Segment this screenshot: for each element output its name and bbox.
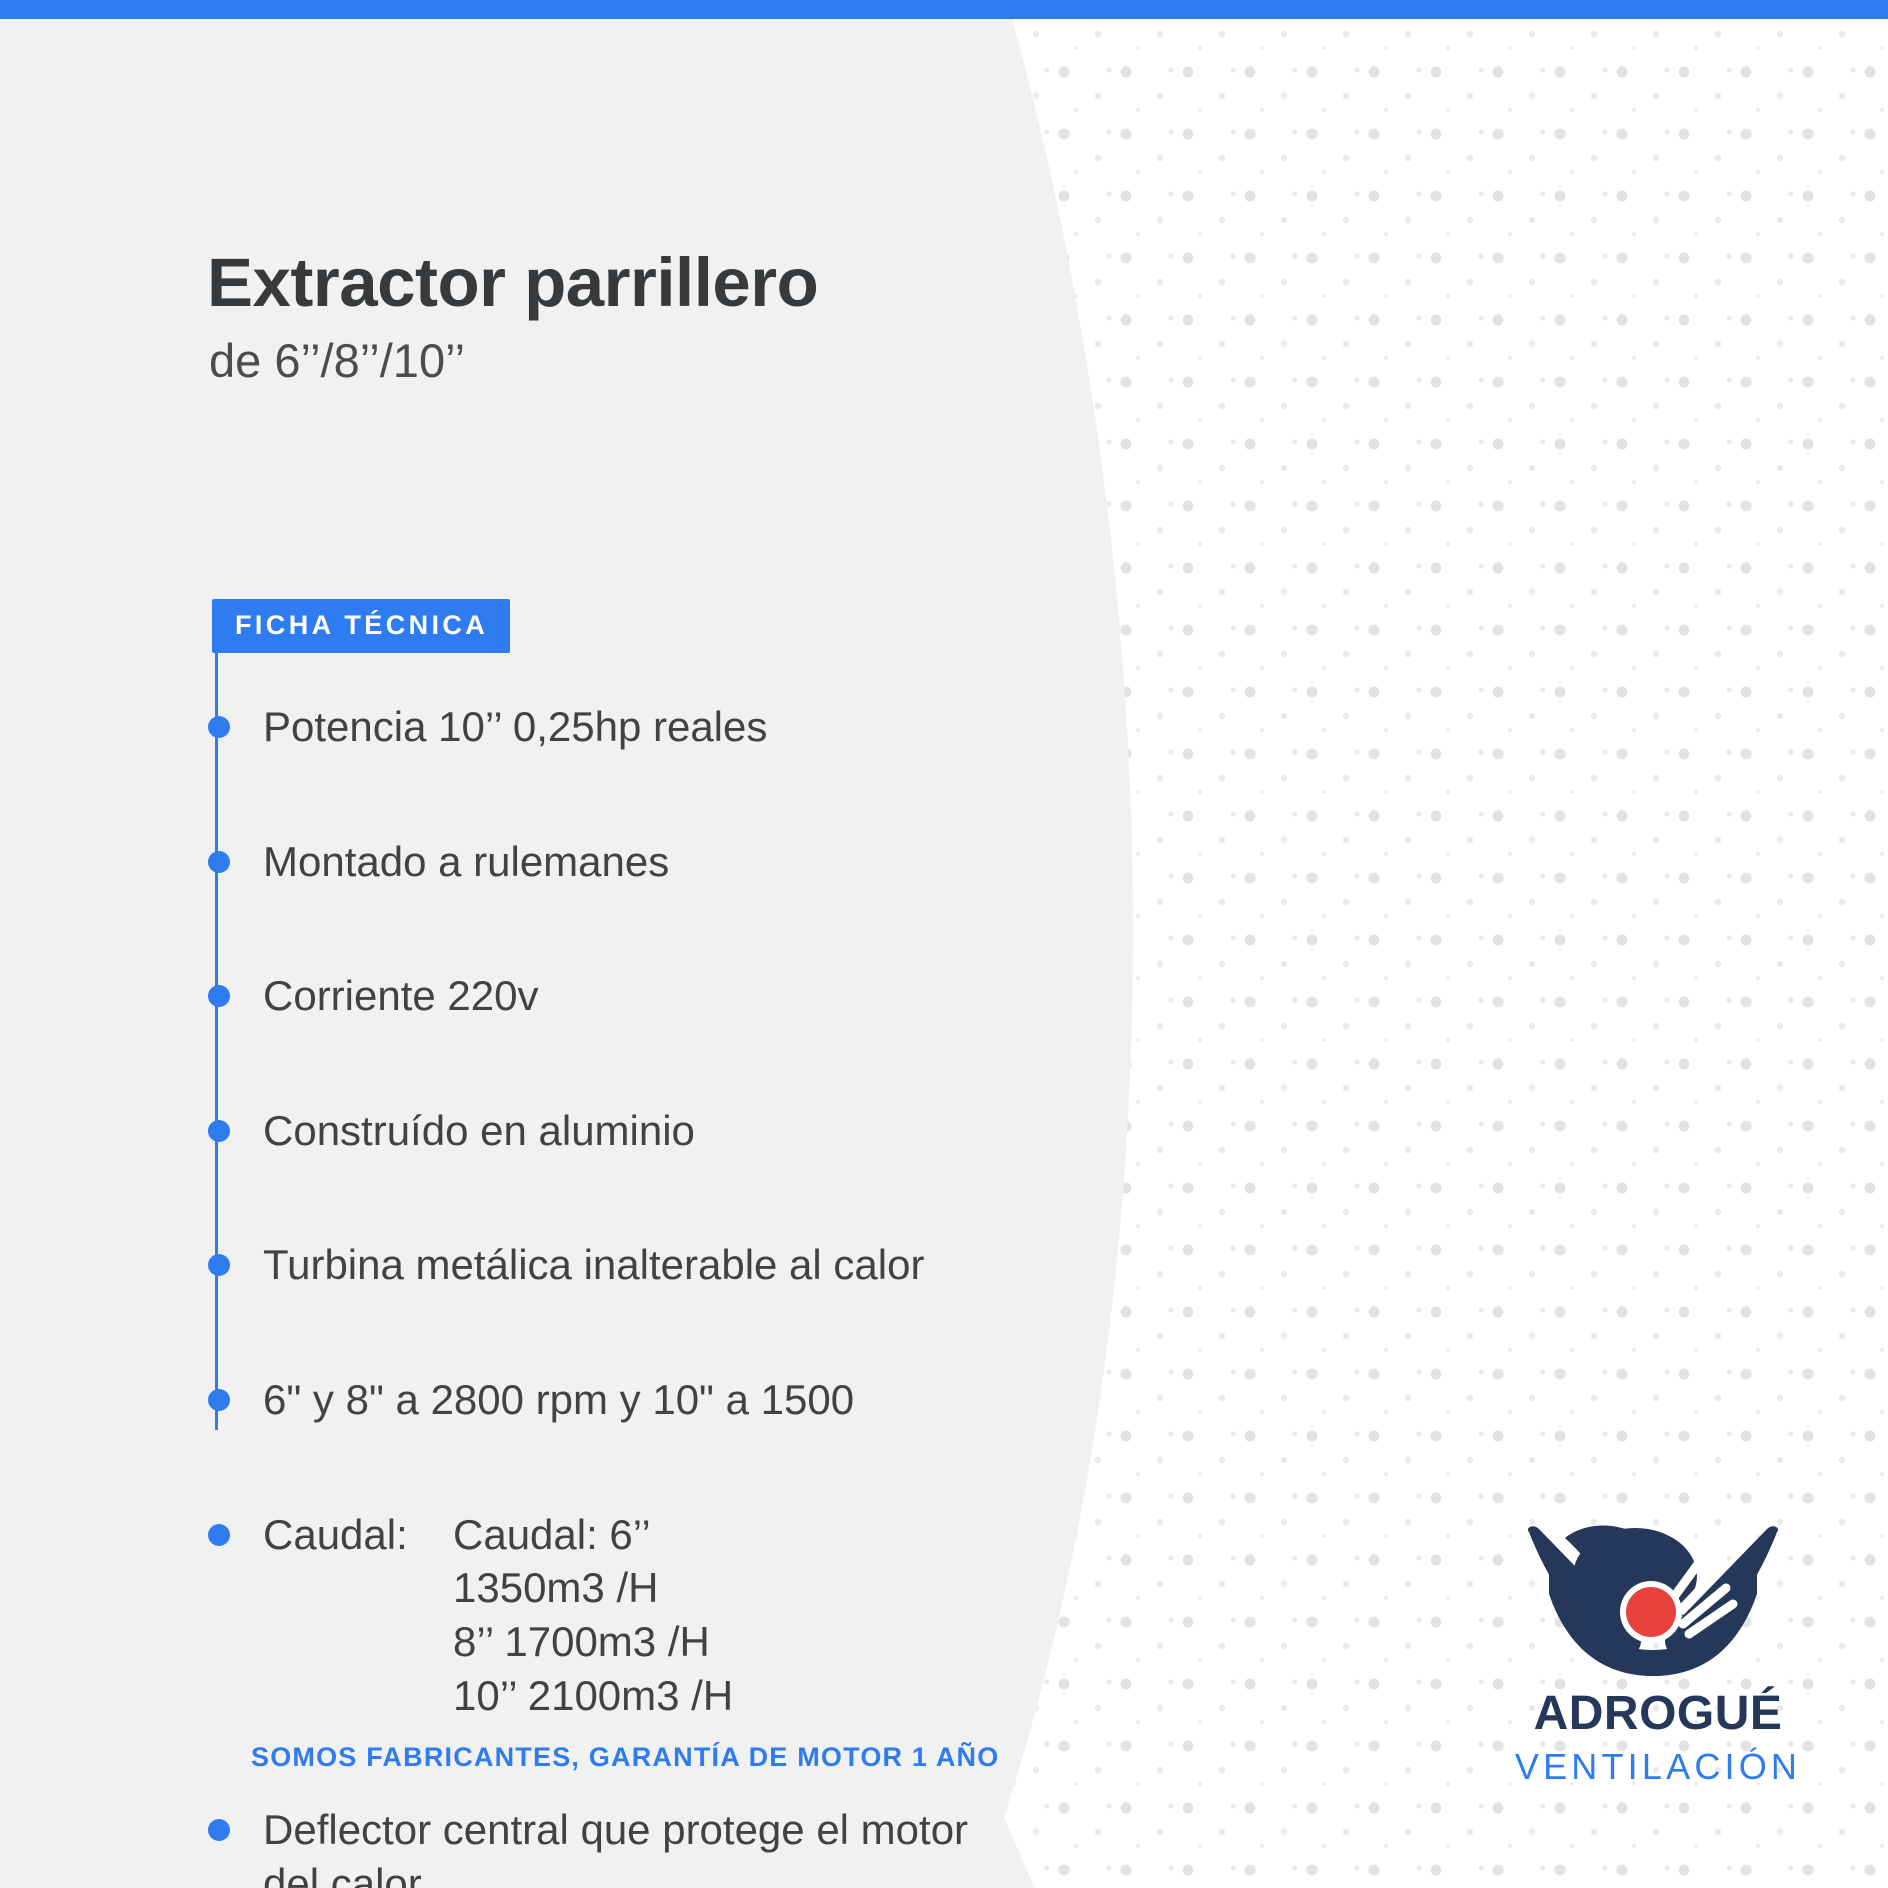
spacer <box>196 1428 1196 1508</box>
fan-wing-logo-icon <box>1523 1524 1783 1689</box>
ficha-tecnica-badge: FICHA TÉCNICA <box>212 599 510 653</box>
list-item: Deflector central que protege el motor d… <box>196 1803 1196 1888</box>
caudal-row: Caudal: Caudal: 6’’ 1350m3 /H <box>263 1508 1196 1616</box>
list-item: Corriente 220v <box>196 969 1196 1024</box>
list-item: Potencia 10’’ 0,25hp reales <box>196 700 1196 755</box>
logo-tagline: VENTILACIÓN <box>1493 1749 1823 1785</box>
product-spec-sheet: Extractor parrillero de 6’’/8’’/10’’ FIC… <box>0 0 1888 1888</box>
spec-list: Potencia 10’’ 0,25hp reales Montado a ru… <box>196 700 1196 1888</box>
caudal-row: Caudal: 8’’ 1700m3 /H <box>263 1615 1196 1669</box>
bullet-dot-icon <box>208 851 230 873</box>
page-subtitle: de 6’’/8’’/10’’ <box>209 337 465 384</box>
caudal-rows: Caudal: Caudal: 6’’ 1350m3 /H Caudal: 8’… <box>263 1508 1196 1723</box>
caudal-value: Caudal: 6’’ 1350m3 /H <box>453 1508 753 1616</box>
list-item-label: Corriente 220v <box>263 972 538 1019</box>
spacer <box>196 1158 1196 1238</box>
footer-slogan: SOMOS FABRICANTES, GARANTÍA DE MOTOR 1 A… <box>251 1742 999 1773</box>
list-item-caudal: Caudal: Caudal: 6’’ 1350m3 /H Caudal: 8’… <box>196 1508 1196 1723</box>
list-item-label: 6" y 8" a 2800 rpm y 10" a 1500 <box>263 1376 854 1423</box>
page-title: Extractor parrillero <box>207 248 818 317</box>
list-item-label: Montado a rulemanes <box>263 838 669 885</box>
list-item: Montado a rulemanes <box>196 835 1196 890</box>
list-item-label: Potencia 10’’ 0,25hp reales <box>263 703 767 750</box>
bullet-dot-icon <box>208 716 230 738</box>
caudal-label: Caudal: <box>263 1508 453 1616</box>
caudal-value: 10’’ 2100m3 /H <box>453 1669 753 1723</box>
list-item: 6" y 8" a 2800 rpm y 10" a 1500 <box>196 1373 1196 1428</box>
list-item-label: Deflector central que protege el motor <box>263 1803 1196 1858</box>
spacer <box>196 1293 1196 1373</box>
logo-brand-name: ADROGUÉ <box>1493 1689 1823 1739</box>
bullet-dot-icon <box>208 1254 230 1276</box>
bullet-dot-icon <box>208 1524 230 1546</box>
spacer <box>196 1024 1196 1104</box>
caudal-value: 8’’ 1700m3 /H <box>453 1615 753 1669</box>
bullet-dot-icon <box>208 1819 230 1841</box>
list-item-label: Construído en aluminio <box>263 1107 695 1154</box>
bullet-dot-icon <box>208 985 230 1007</box>
list-item-label: Turbina metálica inalterable al calor <box>263 1241 924 1288</box>
list-item-multiline: Deflector central que protege el motor d… <box>263 1803 1196 1888</box>
bullet-dot-icon <box>208 1389 230 1411</box>
bullet-dot-icon <box>208 1120 230 1142</box>
caudal-row: Caudal: 10’’ 2100m3 /H <box>263 1669 1196 1723</box>
top-accent-bar <box>0 0 1888 19</box>
spacer <box>196 889 1196 969</box>
content-layer: Extractor parrillero de 6’’/8’’/10’’ FIC… <box>0 0 1888 1888</box>
list-item: Turbina metálica inalterable al calor <box>196 1238 1196 1293</box>
brand-logo: ADROGUÉ VENTILACIÓN <box>1493 1524 1823 1794</box>
list-item-label-cont: del calor <box>263 1857 1196 1888</box>
list-item: Construído en aluminio <box>196 1104 1196 1159</box>
spacer <box>196 755 1196 835</box>
